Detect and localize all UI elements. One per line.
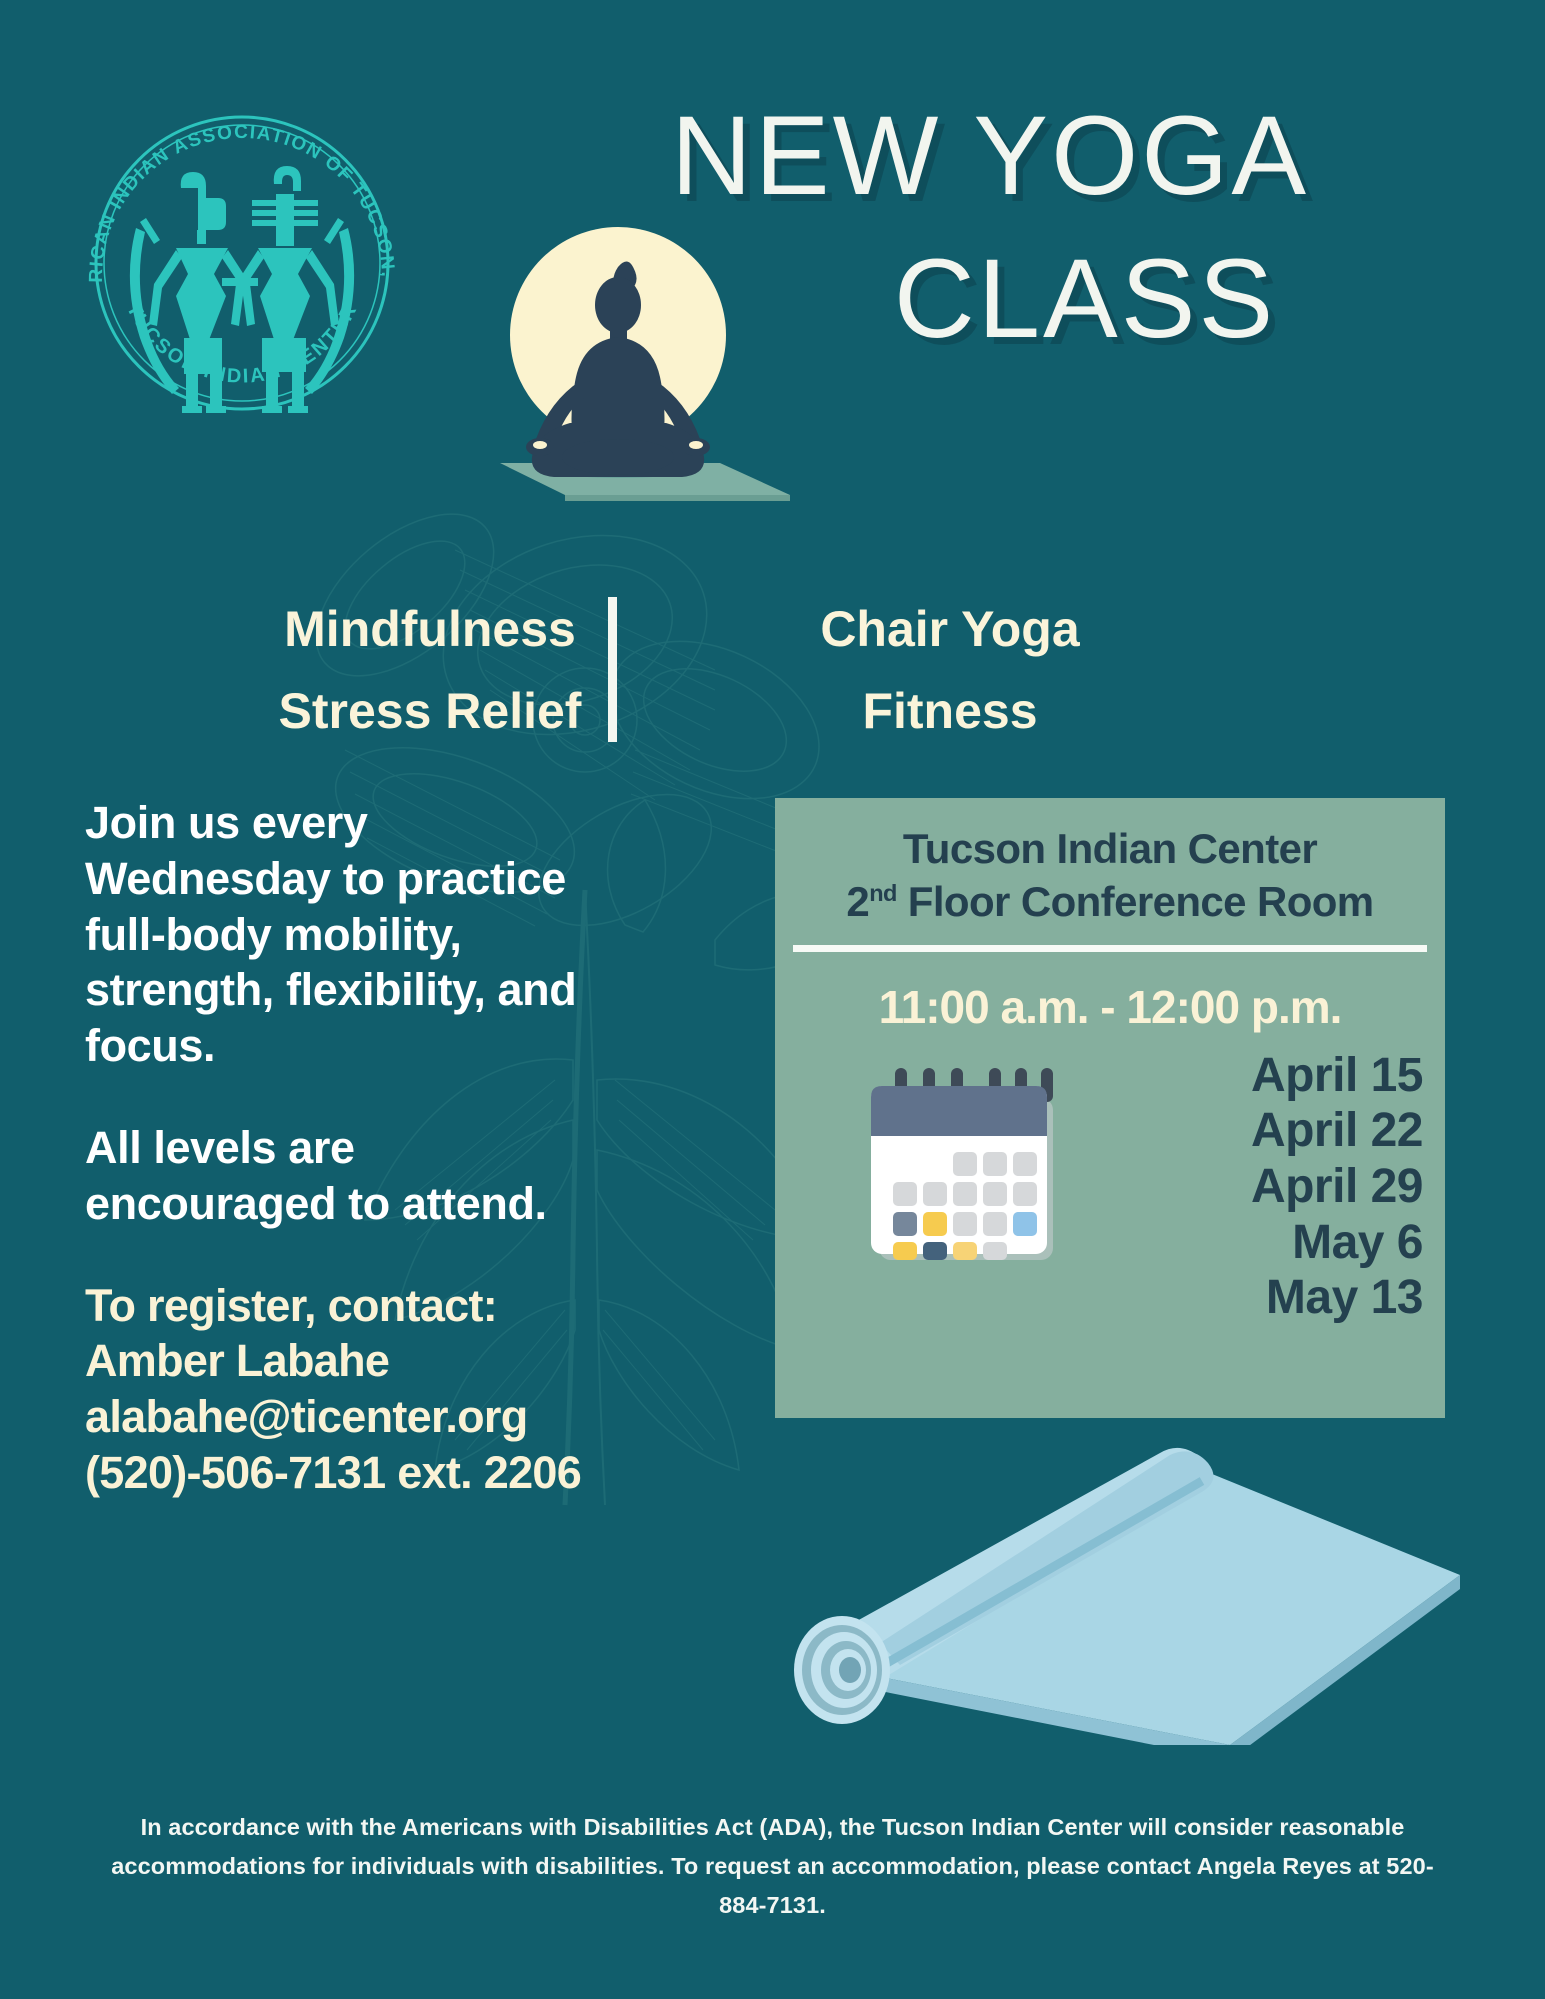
card-divider [793, 945, 1427, 952]
class-date: May 13 [1093, 1270, 1423, 1326]
feature-fitness: Fitness [750, 682, 1150, 740]
feature-chair-yoga: Chair Yoga [750, 600, 1150, 658]
body-paragraph-2: All levels are encouraged to attend. [85, 1120, 585, 1232]
contact-email[interactable]: alabahe@ticenter.org [85, 1389, 585, 1445]
class-date: April 22 [1093, 1103, 1423, 1159]
feature-mindfulness: Mindfulness [230, 600, 630, 658]
body-paragraph-1: Join us every Wednesday to practice full… [85, 795, 585, 1074]
calendar-icon [857, 1064, 1072, 1279]
register-label: To register, contact: [85, 1278, 585, 1334]
feature-stress-relief: Stress Relief [230, 682, 630, 740]
feature-divider [608, 597, 617, 742]
body-copy: Join us every Wednesday to practice full… [85, 795, 585, 1501]
ada-notice: In accordance with the Americans with Di… [95, 1808, 1450, 1924]
contact-block: To register, contact: Amber Labahe alaba… [85, 1278, 585, 1501]
floor-ordinal-suffix: nd [869, 880, 897, 906]
floor-number: 2 [846, 878, 869, 925]
class-date: April 29 [1093, 1159, 1423, 1215]
rolled-yoga-mat-icon [760, 1415, 1460, 1745]
card-schedule: April 15 April 22 April 29 May 6 May 13 [775, 1048, 1445, 1348]
title-line-2: CLASS [670, 239, 1500, 360]
feature-list: Mindfulness Stress Relief Chair Yoga Fit… [150, 600, 1330, 765]
page-title: NEW YOGA CLASS [470, 96, 1500, 360]
feature-column-right: Chair Yoga Fitness [750, 600, 1150, 740]
class-details-card: Tucson Indian Center 2nd Floor Conferenc… [775, 798, 1445, 1418]
class-date: April 15 [1093, 1048, 1423, 1104]
yoga-class-flyer: AMERICAN INDIAN ASSOCIATION OF TUCSON, I… [0, 0, 1545, 1999]
card-location: Tucson Indian Center 2nd Floor Conferenc… [775, 798, 1445, 929]
card-location-line-1: Tucson Indian Center [797, 822, 1423, 875]
class-date: May 6 [1093, 1215, 1423, 1271]
card-location-line-2: 2nd Floor Conference Room [797, 875, 1423, 928]
contact-name: Amber Labahe [85, 1333, 585, 1389]
feature-column-left: Mindfulness Stress Relief [230, 600, 630, 740]
floor-room-text: Floor Conference Room [897, 878, 1374, 925]
class-dates-list: April 15 April 22 April 29 May 6 May 13 [1093, 1048, 1423, 1326]
contact-phone[interactable]: (520)-506-7131 ext. 2206 [85, 1445, 585, 1501]
tucson-indian-center-logo: AMERICAN INDIAN ASSOCIATION OF TUCSON, I… [62, 88, 422, 433]
class-time: 11:00 a.m. - 12:00 p.m. [775, 980, 1445, 1034]
title-line-1: NEW YOGA [480, 96, 1500, 217]
